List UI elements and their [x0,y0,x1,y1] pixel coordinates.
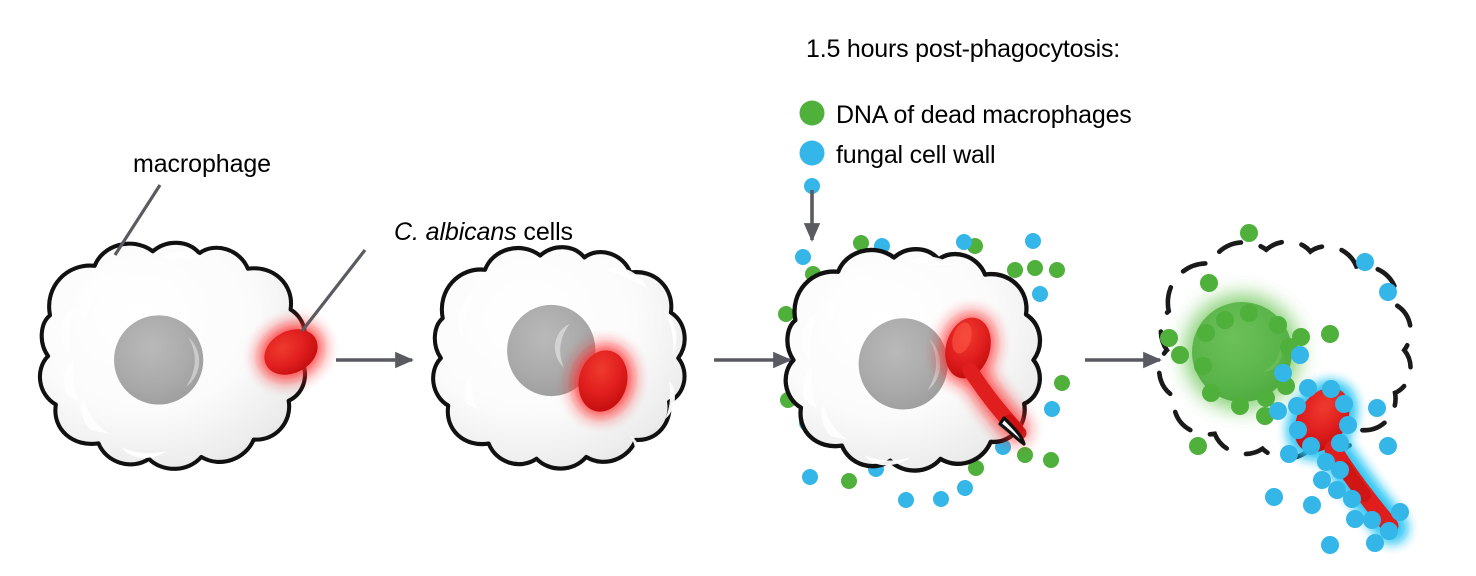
label-calbicans-cells: C. albicans cells [394,218,573,247]
panel-4-dead-macrophage-with-escaped-hypha [1159,224,1411,554]
legend-swatches [800,101,825,166]
diagram-canvas [0,0,1476,576]
legend-label-dna-of-dead-macrophages: DNA of dead macrophages [836,101,1132,130]
panel-1-macrophage-with-adjacent-yeast [40,185,365,469]
green-dot-swatch [800,101,825,126]
panel-3-macrophage-with-hypha-piercing [778,178,1070,508]
label-calbicans-suffix: cells [517,218,573,246]
phagocytosis-diagram: macrophage C. albicans cells 1.5 hours p… [0,0,1476,576]
panel-2-macrophage-with-internalized-yeast [433,247,685,468]
label-calbicans-species: C. albicans [394,218,517,246]
macrophage-nucleus [114,315,203,404]
legend-label-fungal-cell-wall: fungal cell wall [836,141,995,170]
legend-title: 1.5 hours post-phagocytosis: [806,35,1120,64]
label-macrophage: macrophage [133,150,271,179]
leader-calbicans [302,250,365,331]
macrophage-nucleus [859,318,948,409]
blue-dot-swatch [800,141,825,166]
